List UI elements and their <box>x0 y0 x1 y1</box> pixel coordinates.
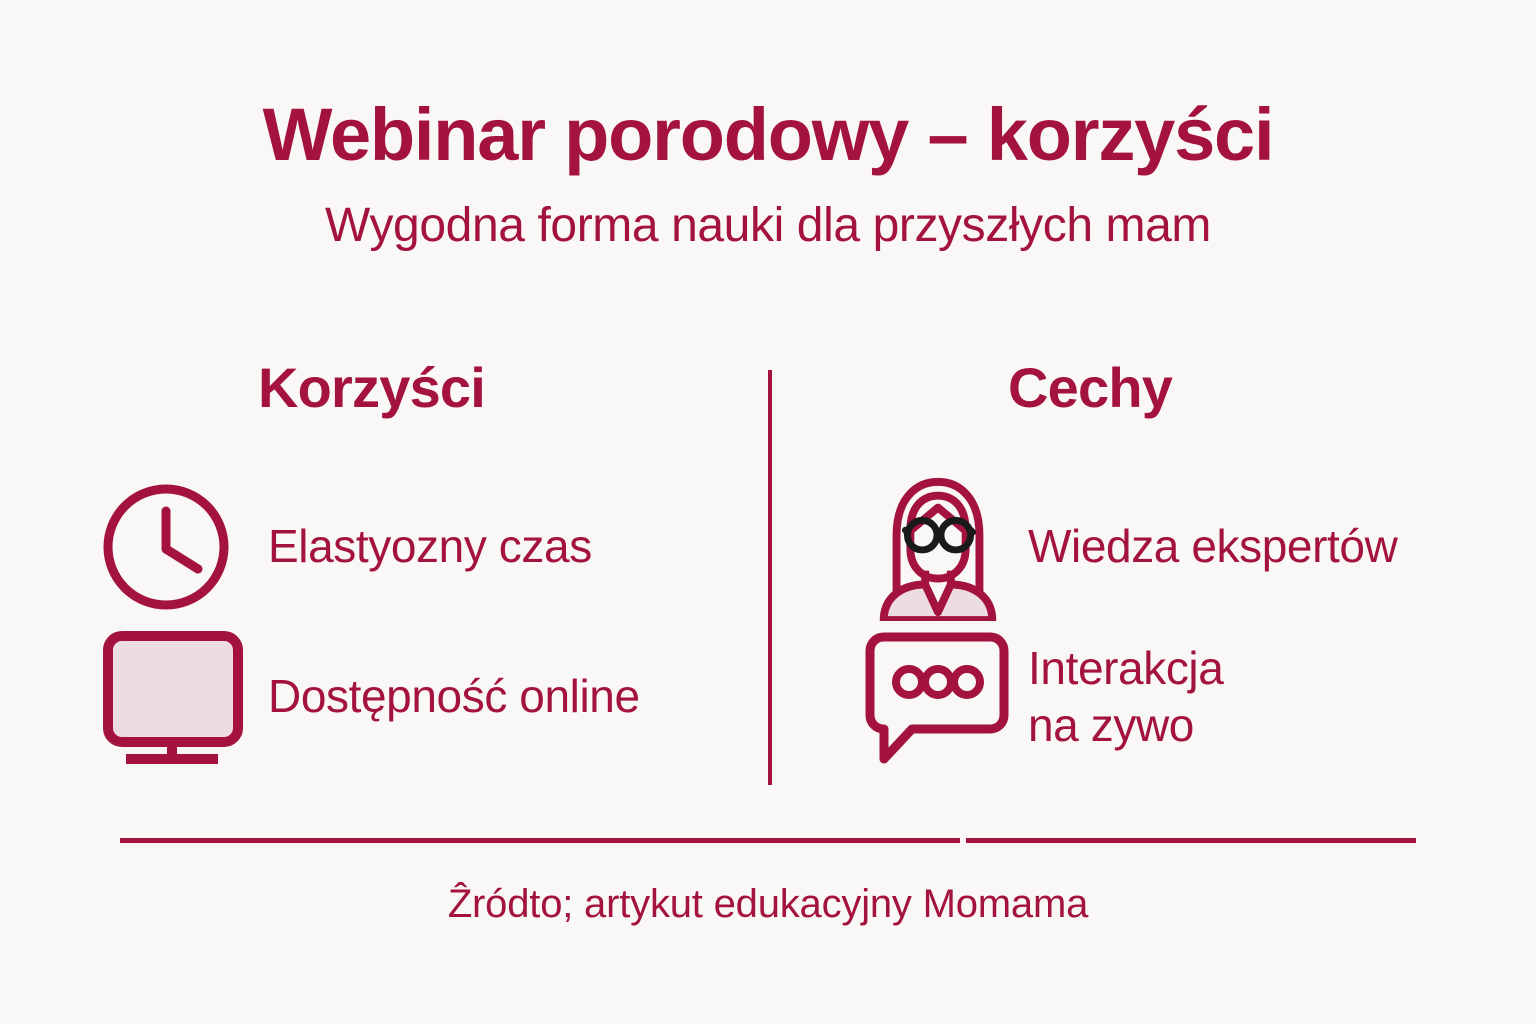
column-heading-right: Cechy <box>768 360 1536 416</box>
chat-bubble-icon <box>864 622 1012 772</box>
list-item: Dostępność online <box>0 622 768 772</box>
list-item: Elastyozny czas <box>0 472 768 622</box>
page-title: Webinar porodowy – korzyści <box>0 96 1536 174</box>
list-item-label: Dostępność online <box>268 668 640 725</box>
column-cechy: Cechy <box>768 360 1536 790</box>
clock-icon <box>100 472 248 622</box>
list-item: Wiedza ekspertów <box>768 472 1536 622</box>
list-item-label: Interakcja na zywo <box>1028 640 1223 754</box>
list-item: Interakcja na zywo <box>768 622 1536 772</box>
monitor-icon <box>100 622 248 772</box>
footer-divider-right <box>966 838 1416 843</box>
column-heading-left: Korzyści <box>0 360 768 416</box>
footer-divider-left <box>120 838 960 843</box>
comparison-columns: Korzyści Elastyozny czas <box>0 360 1536 790</box>
column-right-rows: Wiedza ekspertów Interakcja na zywo <box>768 472 1536 772</box>
infographic-poster: Webinar porodowy – korzyści Wygodna form… <box>0 0 1536 1024</box>
source-note: Ẑródto; artykut edukacyjny Momama <box>0 882 1536 927</box>
expert-person-icon <box>864 472 1012 622</box>
header: Webinar porodowy – korzyści Wygodna form… <box>0 96 1536 253</box>
column-korzysci: Korzyści Elastyozny czas <box>0 360 768 790</box>
page-subtitle: Wygodna forma nauki dla przyszłych mam <box>0 200 1536 253</box>
footer-divider <box>120 838 1416 843</box>
list-item-label: Elastyozny czas <box>268 518 592 575</box>
column-left-rows: Elastyozny czas Dostępność online <box>0 472 768 772</box>
list-item-label: Wiedza ekspertów <box>1028 518 1397 575</box>
